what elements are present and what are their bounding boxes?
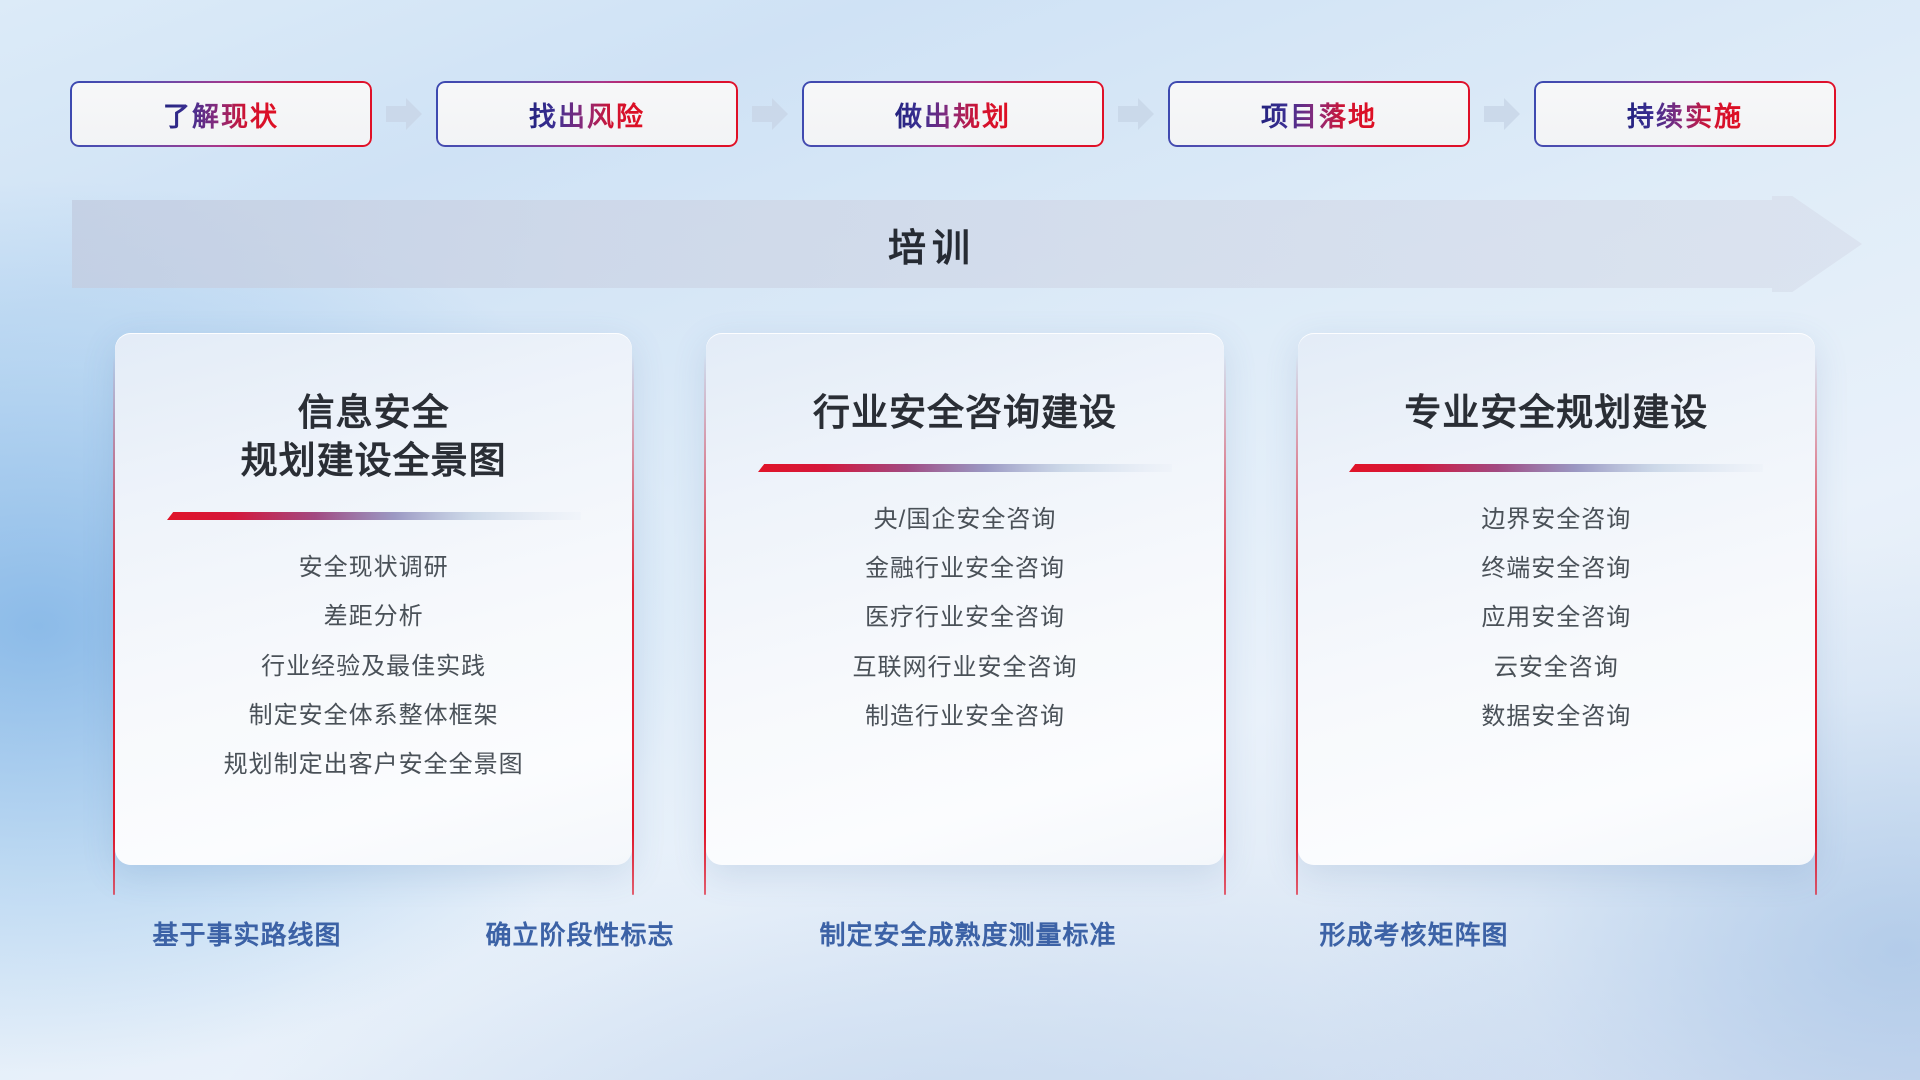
- card-item-list: 央/国企安全咨询金融行业安全咨询医疗行业安全咨询互联网行业安全咨询制造行业安全咨…: [706, 495, 1223, 741]
- card-divider: [167, 511, 581, 523]
- step-label: 项目落地: [1261, 95, 1377, 134]
- list-item: 应用安全咨询: [1320, 593, 1793, 642]
- card-panel[interactable]: 专业安全规划建设边界安全咨询终端安全咨询应用安全咨询云安全咨询数据安全咨询: [1298, 333, 1815, 865]
- step-box-2[interactable]: 找出风险: [436, 81, 738, 147]
- list-item: 云安全咨询: [1320, 643, 1793, 692]
- training-banner: 培训: [72, 196, 1862, 292]
- list-item: 规划制定出客户安全全景图: [137, 740, 610, 789]
- caption-1: 基于事实路线图: [152, 915, 341, 952]
- card-divider-bar: [1349, 463, 1763, 475]
- list-item: 安全现状调研: [137, 543, 610, 592]
- card-accent-edge-right: [1815, 355, 1817, 895]
- step-label: 了解现状: [163, 95, 279, 134]
- card-divider-bar: [758, 463, 1172, 475]
- card-item-list: 边界安全咨询终端安全咨询应用安全咨询云安全咨询数据安全咨询: [1298, 495, 1815, 741]
- step-connector-arrow-icon: [1114, 92, 1158, 136]
- list-item: 互联网行业安全咨询: [728, 643, 1201, 692]
- process-step-flow: 了解现状找出风险做出规划项目落地持续实施: [70, 78, 1850, 150]
- capability-cards: 信息安全 规划建设全景图安全现状调研差距分析行业经验及最佳实践制定安全体系整体框…: [105, 333, 1825, 893]
- card-title: 信息安全 规划建设全景图: [115, 333, 632, 485]
- list-item: 行业经验及最佳实践: [137, 642, 610, 691]
- card-divider-bar: [167, 511, 581, 523]
- step-label: 持续实施: [1627, 95, 1743, 134]
- card-accent-edge-right: [632, 355, 634, 895]
- card-divider: [758, 463, 1172, 475]
- step-box-3[interactable]: 做出规划: [802, 81, 1104, 147]
- card-item-list: 安全现状调研差距分析行业经验及最佳实践制定安全体系整体框架规划制定出客户安全全景…: [115, 543, 632, 789]
- list-item: 医疗行业安全咨询: [728, 593, 1201, 642]
- infographic-canvas: 了解现状找出风险做出规划项目落地持续实施 培训 信息安全 规划建设全景图安全现状…: [0, 0, 1920, 1080]
- list-item: 数据安全咨询: [1320, 692, 1793, 741]
- card-panel[interactable]: 行业安全咨询建设央/国企安全咨询金融行业安全咨询医疗行业安全咨询互联网行业安全咨…: [706, 333, 1223, 865]
- list-item: 边界安全咨询: [1320, 495, 1793, 544]
- card-title: 专业安全规划建设: [1298, 333, 1815, 437]
- step-connector-arrow-icon: [1480, 92, 1524, 136]
- bottom-captions: 基于事实路线图确立阶段性标志制定安全成熟度测量标准形成考核矩阵图: [0, 915, 1920, 963]
- card-panel[interactable]: 信息安全 规划建设全景图安全现状调研差距分析行业经验及最佳实践制定安全体系整体框…: [115, 333, 632, 865]
- step-label: 做出规划: [895, 95, 1011, 134]
- step-label: 找出风险: [529, 95, 645, 134]
- banner-title: 培训: [72, 196, 1792, 292]
- caption-4: 形成考核矩阵图: [1319, 915, 1508, 952]
- list-item: 金融行业安全咨询: [728, 544, 1201, 593]
- step-box-1[interactable]: 了解现状: [70, 81, 372, 147]
- card-1: 信息安全 规划建设全景图安全现状调研差距分析行业经验及最佳实践制定安全体系整体框…: [105, 333, 642, 893]
- step-box-4[interactable]: 项目落地: [1168, 81, 1470, 147]
- card-title: 行业安全咨询建设: [706, 333, 1223, 437]
- card-accent-edge-right: [1224, 355, 1226, 895]
- step-box-5[interactable]: 持续实施: [1534, 81, 1836, 147]
- card-3: 专业安全规划建设边界安全咨询终端安全咨询应用安全咨询云安全咨询数据安全咨询: [1288, 333, 1825, 893]
- caption-3: 制定安全成熟度测量标准: [819, 915, 1116, 952]
- caption-2: 确立阶段性标志: [485, 915, 674, 952]
- step-connector-arrow-icon: [382, 92, 426, 136]
- step-connector-arrow-icon: [748, 92, 792, 136]
- card-divider: [1349, 463, 1763, 475]
- card-2: 行业安全咨询建设央/国企安全咨询金融行业安全咨询医疗行业安全咨询互联网行业安全咨…: [696, 333, 1233, 893]
- list-item: 央/国企安全咨询: [728, 495, 1201, 544]
- list-item: 差距分析: [137, 592, 610, 641]
- list-item: 终端安全咨询: [1320, 544, 1793, 593]
- list-item: 制定安全体系整体框架: [137, 691, 610, 740]
- list-item: 制造行业安全咨询: [728, 692, 1201, 741]
